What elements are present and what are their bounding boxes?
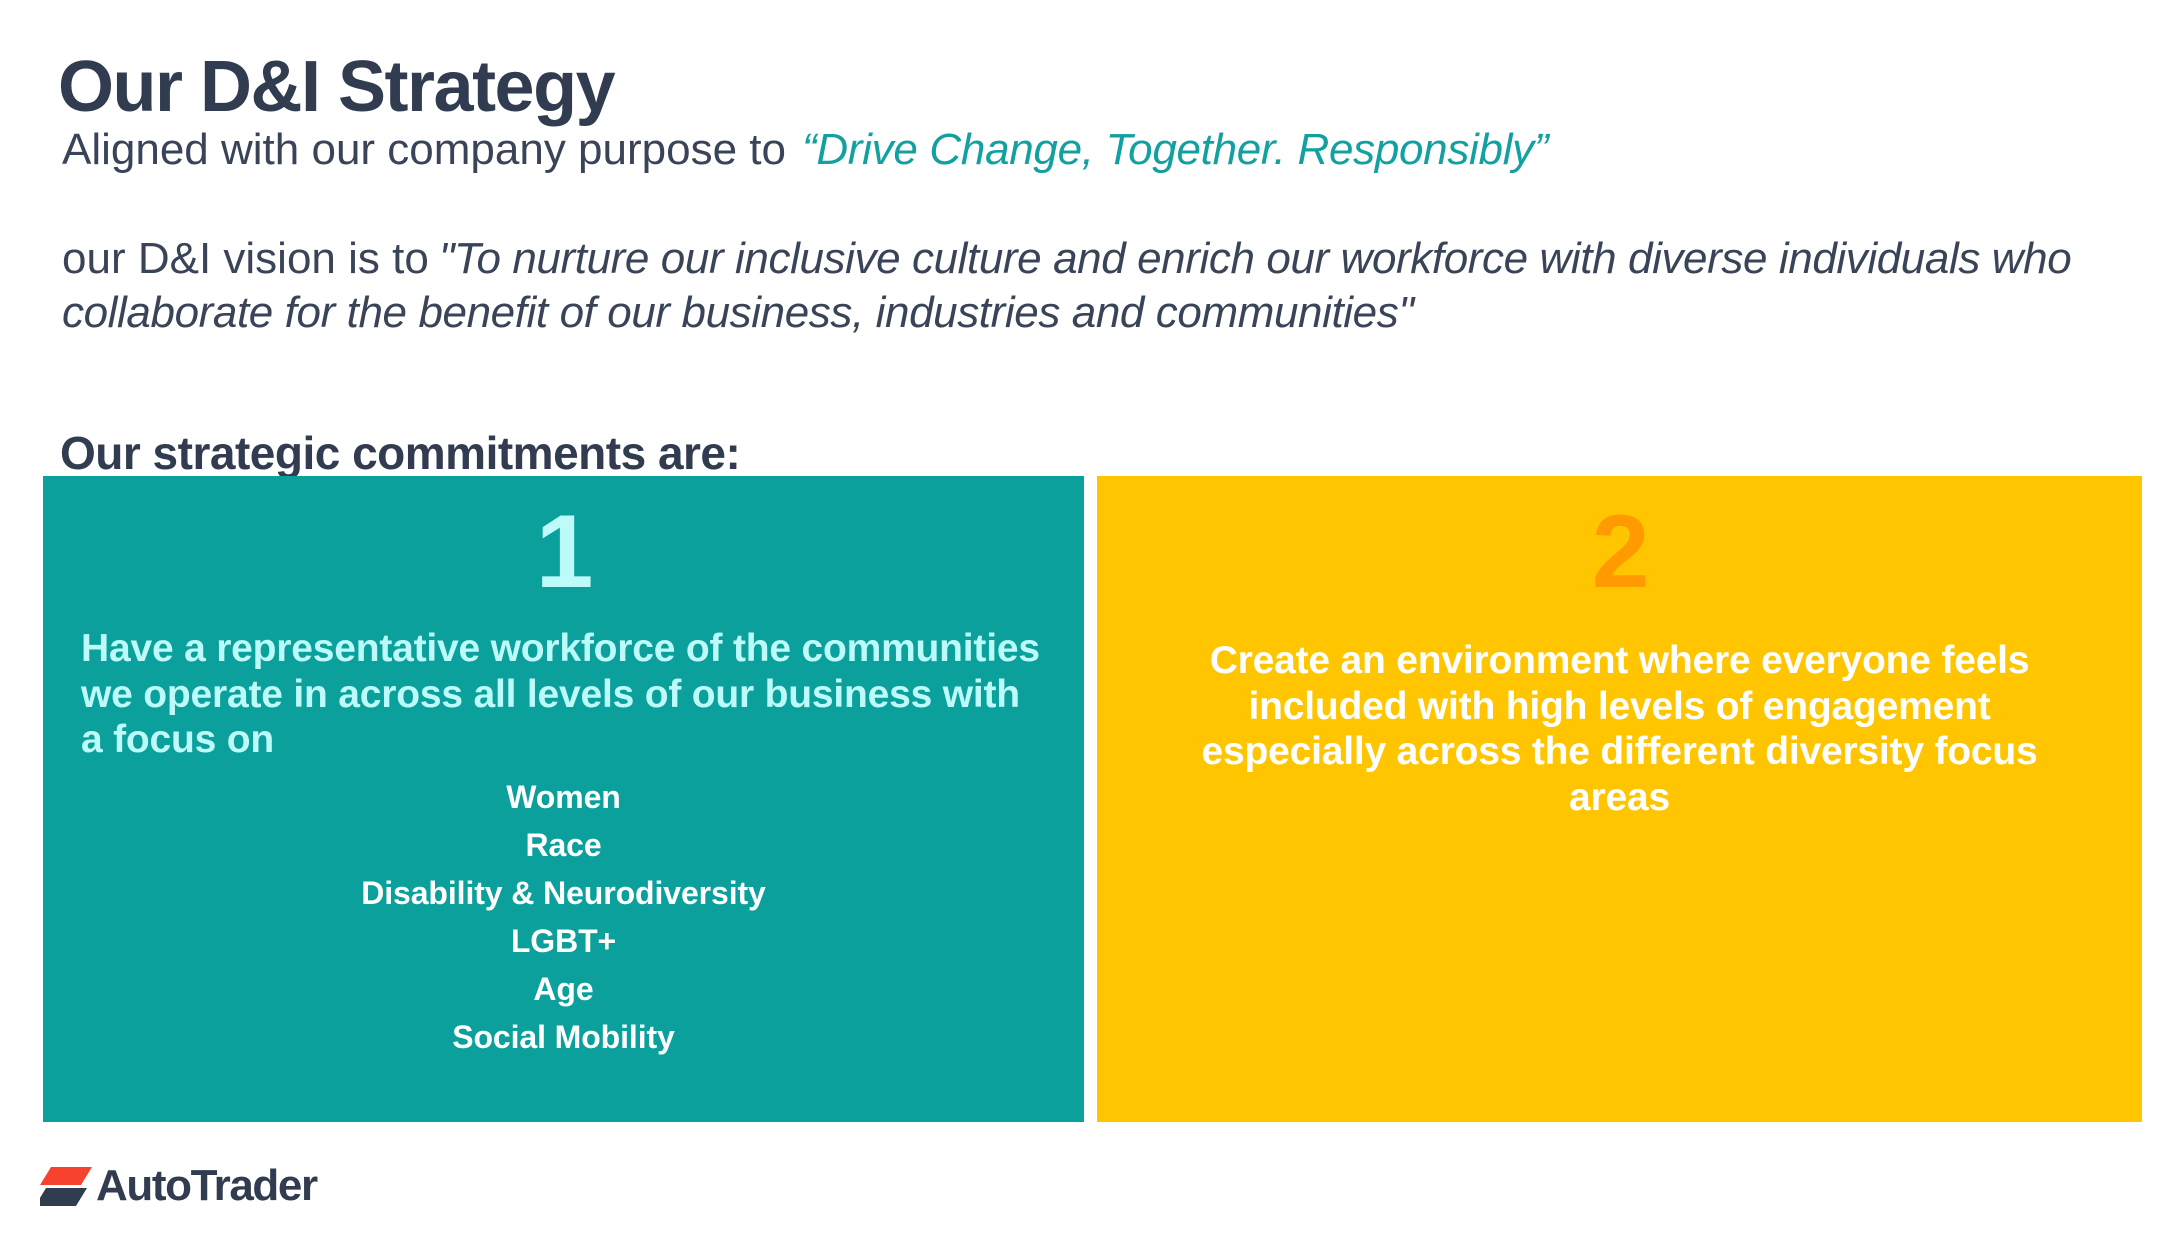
page-title: Our D&I Strategy bbox=[58, 50, 614, 126]
company-purpose-lead: Aligned with our company purpose to bbox=[62, 125, 786, 174]
commitment-card-2: 2 Create an environment where everyone f… bbox=[1097, 476, 2142, 1122]
commitment-card-1-body: Have a representative workforce of the c… bbox=[43, 604, 1084, 763]
focus-areas-list: Women Race Disability & Neurodiversity L… bbox=[43, 773, 1084, 1061]
strategic-commitments-heading: Our strategic commitments are: bbox=[60, 426, 740, 480]
commitment-card-2-body: Create an environment where everyone fee… bbox=[1097, 604, 2142, 821]
di-vision-lead: our D&I vision is to bbox=[62, 234, 429, 283]
commitment-cards: 1 Have a representative workforce of the… bbox=[43, 476, 2142, 1122]
list-item: Age bbox=[43, 965, 1084, 1013]
list-item: Disability & Neurodiversity bbox=[43, 869, 1084, 917]
list-item: LGBT+ bbox=[43, 917, 1084, 965]
autotrader-mark-icon bbox=[40, 1165, 92, 1207]
autotrader-logo: AutoTrader bbox=[40, 1160, 317, 1212]
list-item: Race bbox=[43, 821, 1084, 869]
commitment-card-1: 1 Have a representative workforce of the… bbox=[43, 476, 1084, 1122]
company-purpose-quote: “Drive Change, Together. Responsibly” bbox=[802, 125, 1548, 174]
slide-root: Our D&I Strategy Aligned with our compan… bbox=[0, 0, 2166, 1244]
list-item: Social Mobility bbox=[43, 1013, 1084, 1061]
company-purpose-line: Aligned with our company purpose to“Driv… bbox=[62, 122, 1548, 177]
commitment-card-2-number: 2 bbox=[1097, 476, 2142, 604]
di-vision-block: our D&I vision is to"To nurture our incl… bbox=[62, 232, 2122, 339]
list-item: Women bbox=[43, 773, 1084, 821]
autotrader-logo-text: AutoTrader bbox=[96, 1164, 317, 1208]
commitment-card-1-number: 1 bbox=[43, 476, 1084, 604]
